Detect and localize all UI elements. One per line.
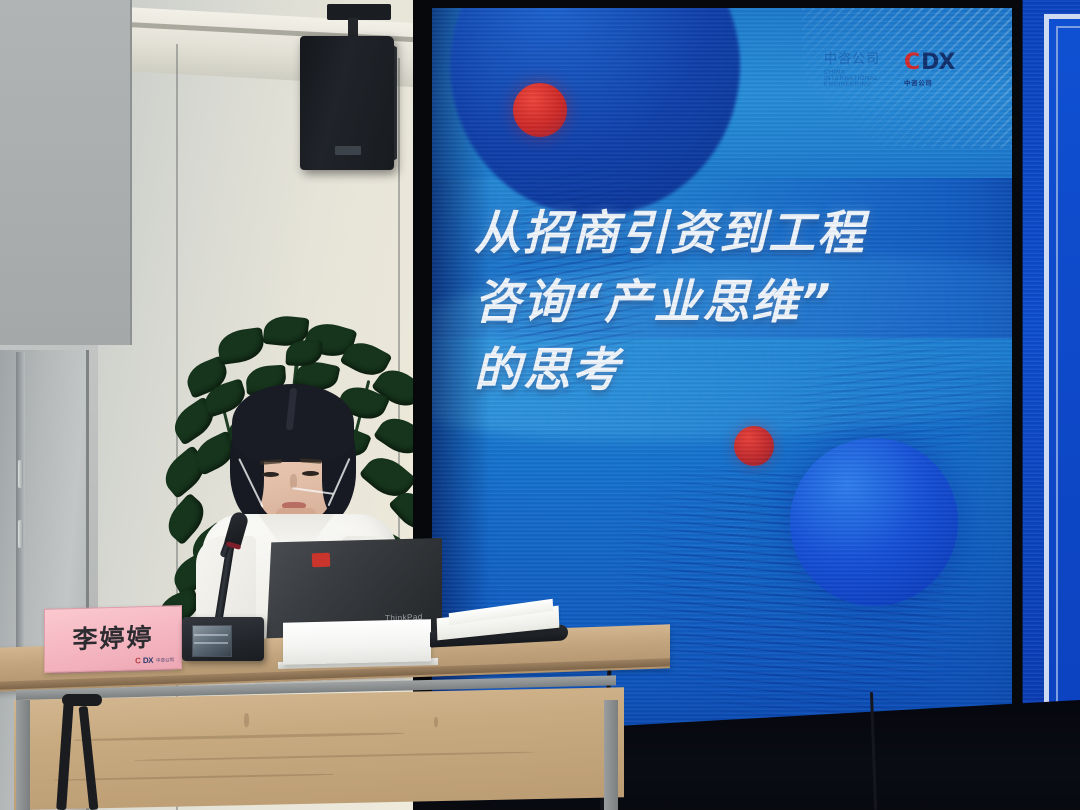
desk-wood-knot xyxy=(434,717,438,727)
slide-title-line-3: 的思考 xyxy=(474,337,974,406)
microphone-screen-line xyxy=(194,634,228,636)
desk-wood-grain xyxy=(54,773,334,781)
nameplate-logo-sub: 中咨公司 xyxy=(156,657,174,664)
desk-leg-left xyxy=(16,700,30,810)
desk-wood-grain xyxy=(134,751,534,761)
slide-red-sphere-middle xyxy=(734,426,774,466)
desk-front-panel xyxy=(14,687,624,810)
slide-logo-secondary-sub: CHINA INTERNATIONAL ENGINEERING xyxy=(824,70,900,88)
nameplate: 李婷婷 C DX 中咨公司 xyxy=(44,605,182,673)
plant-leaf xyxy=(216,327,266,365)
nameplate-name-text: 李婷婷 xyxy=(72,618,153,656)
speaker-badge xyxy=(335,146,361,155)
desk-leg-right xyxy=(604,700,618,810)
desk-wood-knot xyxy=(244,713,249,727)
speaker-mount-plate xyxy=(327,4,391,20)
slide-blue-sphere xyxy=(790,438,958,606)
slide-logo-secondary: 中咨公司 CHINA INTERNATIONAL ENGINEERING xyxy=(824,48,900,84)
nameplate-logo-c: C xyxy=(135,657,141,665)
desk-wood-grain xyxy=(74,732,404,742)
slide-title-line-1: 从招商引资到工程 xyxy=(474,200,974,269)
conference-presentation-scene: 中咨公司 CHINA INTERNATIONAL ENGINEERING C D… xyxy=(0,0,1080,810)
cdx-logo-dx-mark: DX xyxy=(921,52,954,74)
slide-logo-cdx: C DX 中咨公司 xyxy=(904,52,996,92)
door-hinge-upper xyxy=(18,460,23,488)
nameplate-logo-dx: DX xyxy=(143,657,153,665)
cdx-logo-subtitle: 中咨公司 xyxy=(904,77,996,87)
door-hinge-lower xyxy=(18,520,23,548)
wall-panel-upper-left xyxy=(0,0,132,345)
cdx-logo-c-mark: C xyxy=(904,52,920,74)
chair-seat-support xyxy=(62,694,102,706)
slide-logo-secondary-text: 中咨公司 xyxy=(824,48,900,67)
presenter-eye-left xyxy=(262,472,279,477)
nameplate-logo: C DX 中咨公司 xyxy=(135,656,174,665)
secondary-display-inner-border xyxy=(1056,26,1080,718)
slide-red-sphere-top xyxy=(513,83,567,137)
slide-title: 从招商引资到工程 咨询“产业思维” 的思考 xyxy=(474,200,974,406)
presenter-eye-right xyxy=(302,471,319,476)
microphone-display-screen xyxy=(192,625,232,657)
slide-title-line-2: 咨询“产业思维” xyxy=(474,269,974,338)
microphone-screen-line xyxy=(194,642,228,644)
laptop-sticker xyxy=(312,553,330,568)
white-panel xyxy=(283,619,431,665)
